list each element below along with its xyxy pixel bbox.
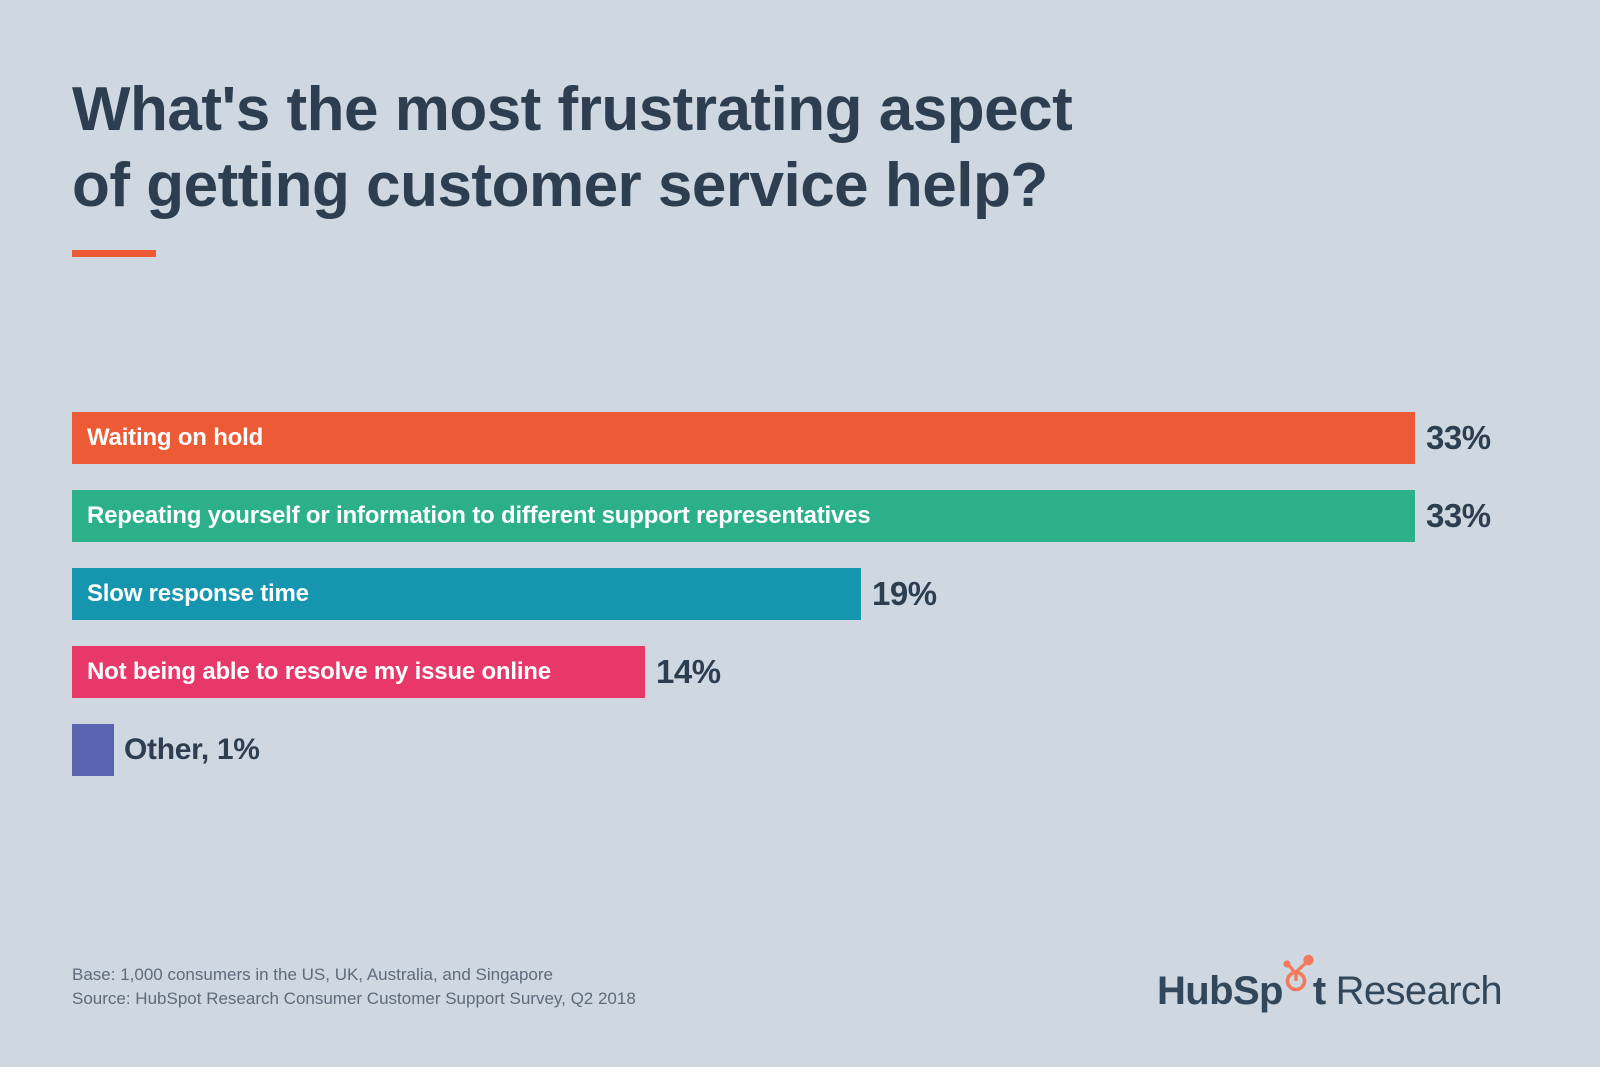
bar-row: Waiting on hold 33% <box>72 412 1532 464</box>
page-title: What's the most frustrating aspect of ge… <box>72 72 1272 224</box>
footer-source-line: Source: HubSpot Research Consumer Custom… <box>72 987 636 1011</box>
bar-row: Repeating yourself or information to dif… <box>72 490 1532 542</box>
hubspot-research-logo: HubSp t Research <box>1157 964 1502 1012</box>
bar-label: Not being able to resolve my issue onlin… <box>87 658 551 686</box>
bar-row-other: Other, 1% <box>72 724 1532 776</box>
bar-row: Not being able to resolve my issue onlin… <box>72 646 1532 698</box>
bar-label: Repeating yourself or information to dif… <box>87 502 870 530</box>
footer-notes: Base: 1,000 consumers in the US, UK, Aus… <box>72 963 636 1011</box>
title-accent-rule <box>72 250 156 257</box>
bar-value: 33% <box>1426 497 1491 535</box>
logo-wordmark: HubSp t Research <box>1157 964 1502 1014</box>
bar-value: 14% <box>656 653 721 691</box>
logo-brand-text: HubSp <box>1157 969 1283 1014</box>
logo-suffix-text: Research <box>1336 969 1502 1014</box>
footer-base-line: Base: 1,000 consumers in the US, UK, Aus… <box>72 963 636 987</box>
bar-value: 33% <box>1426 419 1491 457</box>
bar-repeating-yourself: Repeating yourself or information to dif… <box>72 490 1415 542</box>
bar-label: Slow response time <box>87 580 309 608</box>
bar-chart: Waiting on hold 33% Repeating yourself o… <box>72 412 1532 776</box>
bar-row: Slow response time 19% <box>72 568 1532 620</box>
hubspot-sprocket-icon <box>1283 964 1313 1004</box>
bar-other-swatch <box>72 724 114 776</box>
bar-label: Waiting on hold <box>87 424 263 452</box>
bar-other-label: Other, 1% <box>124 733 260 767</box>
bar-value: 19% <box>872 575 937 613</box>
bar-waiting-on-hold: Waiting on hold <box>72 412 1415 464</box>
bar-slow-response-time: Slow response time <box>72 568 861 620</box>
title-block: What's the most frustrating aspect of ge… <box>72 72 1272 257</box>
bar-not-resolve-online: Not being able to resolve my issue onlin… <box>72 646 645 698</box>
infographic-canvas: What's the most frustrating aspect of ge… <box>0 0 1600 1067</box>
